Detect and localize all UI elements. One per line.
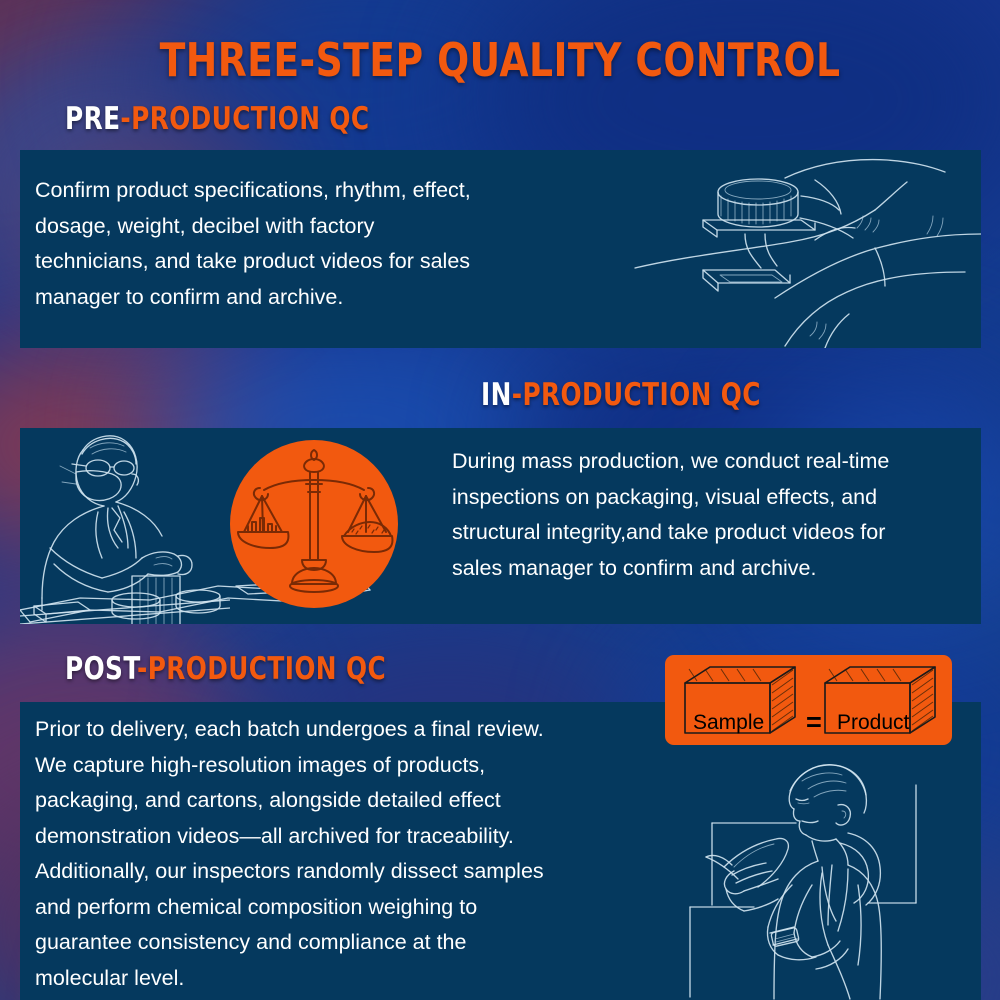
badge-equals-sign: =	[806, 707, 822, 738]
badge-product-label: Product	[837, 711, 909, 735]
step-2-body-text: During mass production, we conduct real-…	[452, 444, 981, 586]
step-2-heading-white: IN	[481, 377, 512, 413]
step-3-body-text: Prior to delivery, each batch undergoes …	[35, 712, 665, 996]
step-3-heading: POST-PRODUCTION QC	[65, 651, 386, 687]
step-2-heading: IN-PRODUCTION QC	[481, 377, 761, 413]
step-3-heading-white: POST	[65, 651, 137, 687]
man-with-tablet-icon	[672, 755, 972, 1000]
step-1-heading: PRE-PRODUCTION QC	[65, 101, 370, 137]
hands-inspecting-product-icon	[625, 150, 981, 348]
badge-sample-label: Sample	[693, 711, 764, 735]
step-3-heading-orange: -PRODUCTION QC	[137, 651, 386, 687]
step-1-heading-white: PRE	[65, 101, 120, 137]
step-2-heading-orange: -PRODUCTION QC	[512, 377, 761, 413]
page-title: THREE-STEP QUALITY CONTROL	[90, 33, 910, 87]
infographic-page: THREE-STEP QUALITY CONTROL PRE-PRODUCTIO…	[0, 0, 1000, 1000]
step-1-heading-orange: -PRODUCTION QC	[120, 101, 369, 137]
sample-equals-product-badge: Sample = Product	[665, 655, 952, 745]
balance-scale-icon	[230, 440, 398, 608]
step-1-body-text: Confirm product specifications, rhythm, …	[35, 173, 595, 315]
